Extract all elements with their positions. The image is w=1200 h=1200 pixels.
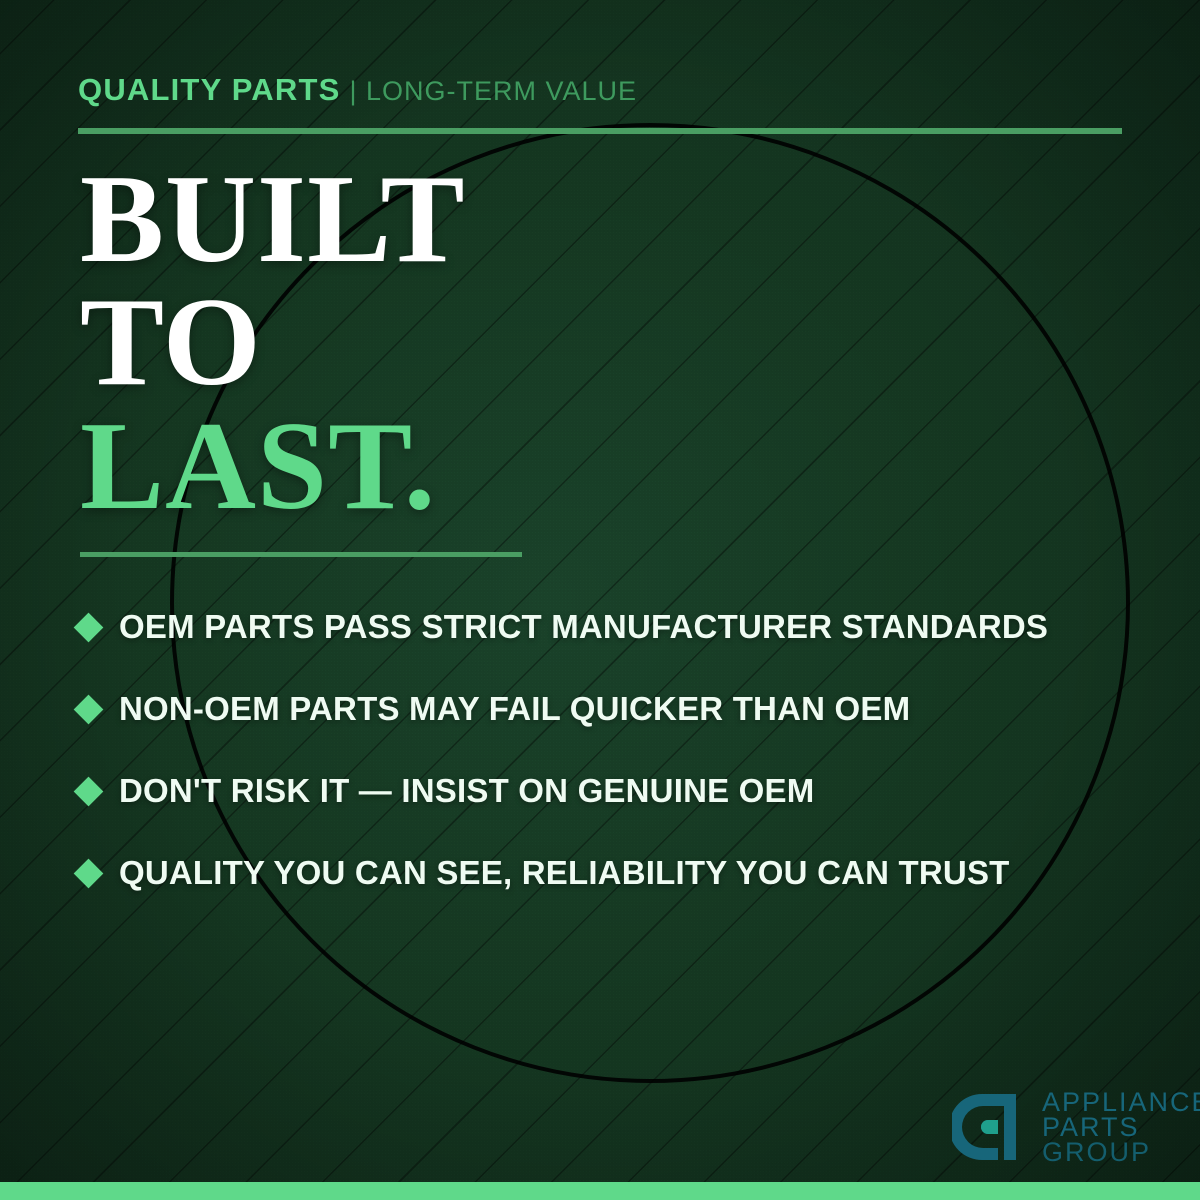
brand-word-group: GROUP — [1042, 1140, 1200, 1165]
headline-divider-rule — [80, 552, 522, 557]
diamond-bullet-icon — [74, 694, 104, 724]
list-item: QUALITY YOU CAN SEE, RELIABILITY YOU CAN… — [78, 832, 1148, 914]
brand-word-parts: PARTS — [1042, 1115, 1200, 1140]
poster-content: QUALITY PARTS| LONG-TERM VALUE BUILT TO … — [0, 0, 1200, 1200]
diamond-bullet-icon — [74, 858, 104, 888]
bottom-accent-bar — [0, 1182, 1200, 1200]
brand-logo: APPLIANCE PARTS GROUP — [952, 1088, 1200, 1166]
headline-line-1: BUILT — [80, 158, 466, 281]
eyebrow-light-text: | LONG-TERM VALUE — [349, 76, 637, 106]
headline-line-3: LAST. — [80, 405, 466, 528]
list-item-label: DON'T RISK IT — INSIST ON GENUINE OEM — [119, 772, 814, 810]
list-item-label: OEM PARTS PASS STRICT MANUFACTURER STAND… — [119, 608, 1048, 646]
list-item: OEM PARTS PASS STRICT MANUFACTURER STAND… — [78, 586, 1148, 668]
headline-line-2: TO — [80, 281, 466, 404]
diamond-bullet-icon — [74, 612, 104, 642]
header-divider-rule — [78, 128, 1122, 134]
list-item: DON'T RISK IT — INSIST ON GENUINE OEM — [78, 750, 1148, 832]
list-item-label: QUALITY YOU CAN SEE, RELIABILITY YOU CAN… — [119, 854, 1010, 892]
brand-wordmark: APPLIANCE PARTS GROUP — [1042, 1088, 1200, 1164]
g-monogram-icon — [952, 1088, 1030, 1166]
page-title: BUILT TO LAST. — [80, 158, 466, 528]
eyebrow-strong-text: QUALITY PARTS — [78, 72, 340, 107]
benefits-list: OEM PARTS PASS STRICT MANUFACTURER STAND… — [78, 586, 1148, 914]
eyebrow: QUALITY PARTS| LONG-TERM VALUE — [78, 74, 637, 105]
list-item: NON-OEM PARTS MAY FAIL QUICKER THAN OEM — [78, 668, 1148, 750]
poster-canvas: QUALITY PARTS| LONG-TERM VALUE BUILT TO … — [0, 0, 1200, 1200]
diamond-bullet-icon — [74, 776, 104, 806]
list-item-label: NON-OEM PARTS MAY FAIL QUICKER THAN OEM — [119, 690, 910, 728]
